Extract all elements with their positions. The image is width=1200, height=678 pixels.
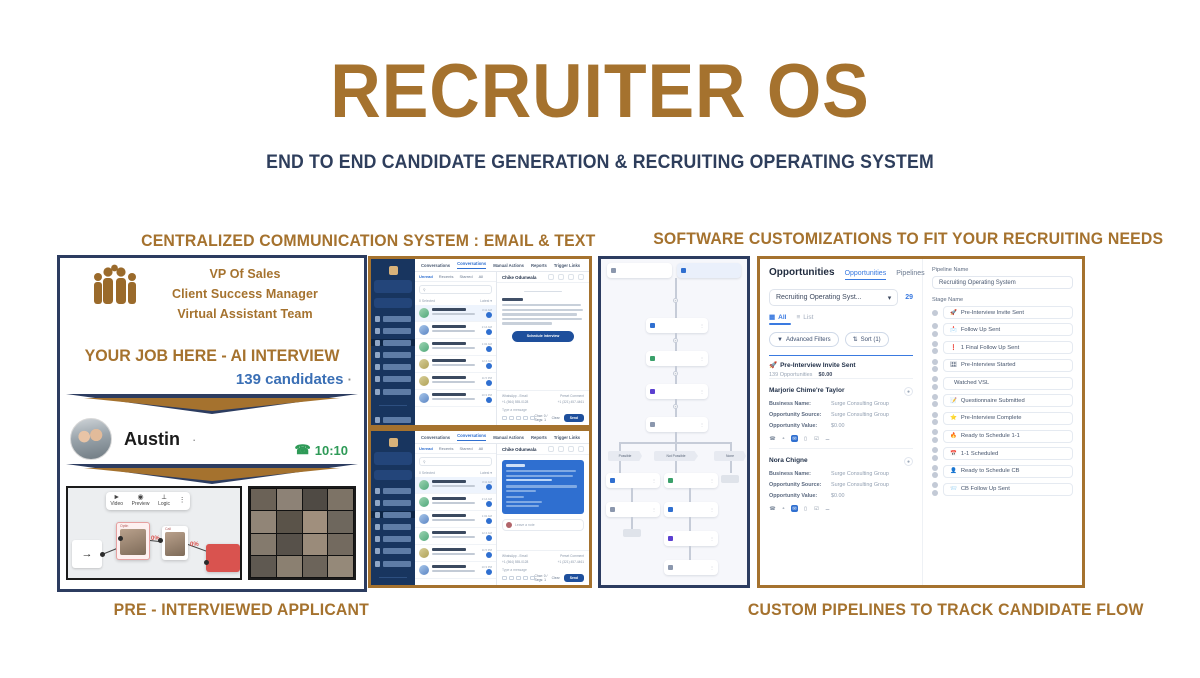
sidebar-divider xyxy=(379,577,407,578)
stage-row: 🎛 Pre-Interview Started xyxy=(932,359,1073,373)
image-icon[interactable] xyxy=(516,576,521,581)
tab-reports[interactable]: Reports xyxy=(531,263,547,268)
reply-row[interactable]: Leave a note xyxy=(502,519,584,531)
opportunities-header: Opportunities Opportunities Pipelines xyxy=(769,267,913,280)
stage-emoji-icon: 🔥 xyxy=(950,433,957,439)
ellipsis-icon: · xyxy=(348,372,352,387)
thread-messages: Schedule Interview xyxy=(497,283,589,390)
value-label: Opportunity Value: xyxy=(769,423,825,429)
avatar xyxy=(506,522,512,528)
stage-value: $0.00 xyxy=(819,372,833,378)
workflow-node-add-to-trigger[interactable]: ⋮ xyxy=(664,531,718,546)
pipeline-select[interactable]: Recruiting Operating Syst... ▾ xyxy=(769,289,898,306)
view-all-toggle[interactable]: ▦ All xyxy=(769,313,786,321)
stage-emoji-icon: 📅 xyxy=(950,451,957,457)
attachment-icon[interactable] xyxy=(509,416,514,421)
opportunity-card[interactable]: Marjorie Chime're Taylor ● Business Name… xyxy=(769,378,913,448)
pipeline-settings-column: Pipeline Name Recruiting Operating Syste… xyxy=(923,259,1082,585)
sms-icon xyxy=(650,356,655,361)
composer-channel[interactable]: WhatsApp - Email xyxy=(502,554,528,558)
funnel-step-node[interactable]: Call xyxy=(162,526,188,560)
call-icon[interactable] xyxy=(548,274,554,280)
sidebar-divider xyxy=(379,405,407,406)
chat-icon[interactable]: ⚬ xyxy=(780,505,787,512)
opportunity-card-header: Marjorie Chime're Taylor ● xyxy=(769,387,913,396)
composer-template[interactable]: Preset Comment xyxy=(560,554,584,558)
chevron-down-icon: ▾ xyxy=(888,294,892,302)
add-step-icon[interactable]: + xyxy=(673,338,678,343)
tab-all[interactable]: All xyxy=(479,446,483,451)
conversation-list-item[interactable]: 12:4 AM xyxy=(415,356,496,373)
composer-template[interactable]: Preset Comment xyxy=(560,394,584,398)
sidebar-item-contacts[interactable] xyxy=(375,364,411,371)
conversation-filter-tabs: Unread Recents Starred All xyxy=(415,444,496,454)
stage-name-value: Follow Up Sent xyxy=(961,327,1000,333)
reply-placeholder: Leave a note xyxy=(515,523,535,527)
sidebar-item-ai-agents[interactable] xyxy=(375,417,411,424)
conversation-list-item[interactable]: 3:11 AM xyxy=(415,477,496,494)
account-switcher[interactable] xyxy=(374,280,412,293)
sidebar-search-input[interactable] xyxy=(374,470,412,480)
stage-title: 🚀 Pre-Interview Invite Sent xyxy=(769,361,913,369)
video-icon[interactable]: ►Video xyxy=(110,494,123,507)
wait-icon xyxy=(650,389,655,394)
thread-header: Chike Odumeala xyxy=(497,272,589,283)
avatar: ● xyxy=(904,457,913,466)
opportunity-total-count: 29 xyxy=(905,294,913,301)
stage-row: 🔥 Ready to Schedule 1-1 xyxy=(932,429,1073,443)
drag-handle-icon[interactable] xyxy=(932,482,938,496)
phone-icon: ☎ xyxy=(295,442,311,458)
workflow-node-condition-left[interactable]: ⋮ xyxy=(606,473,660,488)
stage-row: 📩 Follow Up Sent xyxy=(932,323,1073,337)
conversation-list-item[interactable]: 10:3 PM xyxy=(415,390,496,407)
appointment-icon[interactable] xyxy=(558,274,564,280)
crm-sidebar xyxy=(371,431,415,585)
business-name-value: Surge Consulting Group xyxy=(831,401,889,407)
drag-handle-icon[interactable] xyxy=(932,310,938,316)
message-input[interactable]: Type a message xyxy=(502,566,584,574)
grid-icon: ▦ xyxy=(769,313,775,321)
stage-name-value: Ready to Schedule 1-1 xyxy=(961,433,1020,439)
task-icon[interactable]: ☑ xyxy=(813,505,820,512)
candidate-count: 139 candidates · xyxy=(236,371,352,388)
email-subject xyxy=(506,464,525,467)
composer-to[interactable]: +1 (321) 457-4461 xyxy=(558,400,584,404)
conversation-list-item[interactable]: 1:02 AM xyxy=(415,511,496,528)
opportunities-column: Opportunities Opportunities Pipelines Re… xyxy=(760,259,923,585)
conversation-list-item[interactable]: 2:14 AM xyxy=(415,322,496,339)
drag-handle-icon[interactable] xyxy=(932,394,938,408)
stage-emoji-icon: 🎛 xyxy=(950,362,957,368)
workflow-canvas[interactable]: + ⋮ + ⋮ + ⋮ + ⋮ xyxy=(601,259,747,585)
conversation-list-item[interactable]: 1:02 AM xyxy=(415,339,496,356)
conversation-list-meta: 0 Selected Latest ▾ xyxy=(415,297,496,305)
drag-handle-icon[interactable] xyxy=(932,429,938,443)
stage-row: ⭐ Pre-Interview Complete xyxy=(932,412,1073,426)
stage-input[interactable]: 🎛 Pre-Interview Started xyxy=(943,359,1073,372)
workflow-end-chip xyxy=(721,475,739,483)
opportunities-pipeline-panel: Opportunities Opportunities Pipelines Re… xyxy=(757,256,1085,588)
stage-input[interactable]: ❗ 1 Final Follow Up Sent xyxy=(943,341,1073,354)
conversation-list: Unread Recents Starred All ⚲ 0 Selected … xyxy=(415,272,497,425)
phone-icon[interactable]: ☎ xyxy=(769,435,776,442)
drag-handle-icon[interactable] xyxy=(932,412,938,426)
page-subtitle: END TO END CANDIDATE GENERATION & RECRUI… xyxy=(42,152,1158,174)
workflow-end-chip xyxy=(623,529,641,537)
trigger-icon xyxy=(611,268,616,273)
workflow-node-sms[interactable]: ⋮ xyxy=(646,351,708,366)
conversation-list-item[interactable]: 11:5 PM xyxy=(415,545,496,562)
note-icon[interactable]: ▯ xyxy=(802,435,809,442)
appointment-icon[interactable] xyxy=(558,446,564,452)
caption-centralized-communication: CENTRALIZED COMMUNICATION SYSTEM : EMAIL… xyxy=(141,231,595,251)
page-title: Conversations xyxy=(421,263,450,268)
sidebar-item-launchpad[interactable] xyxy=(375,315,411,322)
composer-channel[interactable]: WhatsApp - Email xyxy=(502,394,528,398)
composer-to[interactable]: +1 (321) 457-4461 xyxy=(558,560,584,564)
stage-input[interactable]: 📩 Follow Up Sent xyxy=(943,323,1073,336)
conversation-thread: Chike Odumeala xyxy=(497,272,589,425)
tab-conversations[interactable]: Conversations xyxy=(457,261,486,269)
tab-recents[interactable]: Recents xyxy=(439,446,454,451)
funnel-step-node[interactable]: Optin xyxy=(116,522,150,560)
stage-name-value: Ready to Schedule CB xyxy=(961,468,1020,474)
plus-icon xyxy=(681,268,686,273)
preview-icon[interactable]: ◉Preview xyxy=(132,494,150,507)
avatar: ● xyxy=(904,387,913,396)
crm-main: Conversations Conversations Manual Actio… xyxy=(415,431,589,585)
crm-main: Conversations Conversations Manual Actio… xyxy=(415,259,589,425)
advanced-filters-button[interactable]: ▼ Advanced Filters xyxy=(769,332,839,347)
emoji-icon[interactable] xyxy=(502,416,507,421)
slide-root: RECRUITER OS END TO END CANDIDATE GENERA… xyxy=(0,0,1200,678)
branch-label-none[interactable]: None xyxy=(714,451,746,461)
tab-opportunities[interactable]: Opportunities xyxy=(845,270,887,280)
trigger-icon xyxy=(668,536,673,541)
call-time-text: 10:10 xyxy=(315,443,348,458)
crm-conversations-panel-top: Conversations Conversations Manual Actio… xyxy=(368,256,592,428)
workflow-builder-panel: + ⋮ + ⋮ + ⋮ + ⋮ xyxy=(598,256,750,588)
tab-recents[interactable]: Recents xyxy=(439,274,454,279)
stage-name-value: 1 Final Follow Up Sent xyxy=(961,345,1019,351)
ellipsis-icon: · xyxy=(192,432,196,447)
kebab-menu-icon[interactable]: ⋮ xyxy=(179,497,186,505)
composer-from[interactable]: +1 (564) 555-0128 xyxy=(502,400,528,404)
clear-button[interactable]: Clear xyxy=(552,416,560,420)
chat-icon[interactable]: ⚬ xyxy=(780,435,787,442)
source-label: Opportunity Source: xyxy=(769,482,825,488)
composer-from[interactable]: +1 (564) 555-0128 xyxy=(502,560,528,564)
sidebar-nav xyxy=(371,487,415,588)
note-icon[interactable] xyxy=(568,274,574,280)
sidebar-item-calendars[interactable] xyxy=(375,352,411,359)
role-item: Client Success Manager xyxy=(130,284,360,304)
email-message-bubble xyxy=(502,460,584,514)
caption-pre-interviewed-applicant: PRE - INTERVIEWED APPLICANT xyxy=(114,600,369,620)
sidebar-nav xyxy=(371,315,415,428)
branch-label-possible[interactable]: Possible xyxy=(608,451,642,461)
sort-latest[interactable]: Latest ▾ xyxy=(480,299,492,303)
drag-handle-icon[interactable] xyxy=(932,359,938,373)
stage-row: ❗ 1 Final Follow Up Sent xyxy=(932,341,1073,355)
stage-column-header: 🚀 Pre-Interview Invite Sent 139 Opportun… xyxy=(769,355,913,378)
drag-handle-icon[interactable] xyxy=(932,447,938,461)
tab-starred[interactable]: Starred xyxy=(459,446,472,451)
sidebar-item-payments[interactable] xyxy=(375,560,411,567)
sidebar-item-contacts[interactable] xyxy=(375,536,411,543)
condition-icon xyxy=(610,478,615,483)
tab-pipelines[interactable]: Pipelines xyxy=(896,270,924,277)
job-headline: YOUR JOB HERE - AI INTERVIEW xyxy=(69,346,355,366)
stage-emoji-icon: 👤 xyxy=(950,468,957,474)
contact-icon xyxy=(610,507,615,512)
template-icon[interactable] xyxy=(523,576,528,581)
view-list-toggle[interactable]: ≡ List xyxy=(796,314,813,321)
add-step-icon[interactable]: + xyxy=(673,298,678,303)
note-icon[interactable]: ▯ xyxy=(802,505,809,512)
char-counter: Char: 0 / Segs: 1 xyxy=(535,414,548,422)
crm-conversations-panel-bottom: Conversations Conversations Manual Actio… xyxy=(368,428,592,588)
stage-input[interactable]: 🔥 Ready to Schedule 1-1 xyxy=(943,430,1073,443)
role-list: VP Of Sales Client Success Manager Virtu… xyxy=(130,264,360,324)
branch-label-not-possible[interactable]: Not Possible xyxy=(654,451,698,461)
sidebar-search-input[interactable] xyxy=(374,298,412,308)
delete-icon[interactable]: ⚊ xyxy=(824,505,831,512)
date-separator xyxy=(524,291,562,292)
tab-conversations[interactable]: Conversations xyxy=(457,433,486,441)
stage-emoji-icon: 📨 xyxy=(950,486,957,492)
workflow-node-update-contact[interactable]: ⋮ xyxy=(606,502,660,517)
funnel-builder-thumbnail: ►Video ◉Preview ⟂Logic ⋮ → xyxy=(66,486,242,580)
conversation-thread: Chike Odumeala xyxy=(497,444,589,585)
workflow-node-goto[interactable]: ⋮ xyxy=(664,560,718,575)
conversation-search-input[interactable]: ⚲ xyxy=(419,285,492,294)
workflow-node-add-tag[interactable]: ⋮ xyxy=(646,318,708,333)
funnel-toolbar: ►Video ◉Preview ⟂Logic ⋮ xyxy=(106,492,190,510)
schedule-interview-button[interactable]: Schedule Interview xyxy=(512,331,574,342)
filter-row: ▼ Advanced Filters ⇅ Sort (1) xyxy=(769,332,913,347)
stage-emoji-icon: 📝 xyxy=(950,398,957,404)
drag-handle-icon[interactable] xyxy=(932,465,938,479)
stage-input[interactable]: ⭐ Pre-Interview Complete xyxy=(943,412,1073,425)
sidebar-item-dashboard[interactable] xyxy=(375,327,411,334)
branch-icon xyxy=(650,422,655,427)
page-title: Opportunities xyxy=(769,267,835,278)
value-value: $0.00 xyxy=(831,423,845,429)
conversation-search-input[interactable]: ⚲ xyxy=(419,457,492,466)
sidebar-item-conversations[interactable] xyxy=(371,339,415,346)
filter-icon[interactable] xyxy=(578,446,584,452)
emoji-icon[interactable] xyxy=(502,576,507,581)
sidebar-item-conversations[interactable] xyxy=(371,511,415,518)
conversation-list-item[interactable]: 2:14 AM xyxy=(415,494,496,511)
stage-input[interactable]: 📝 Questionnaire Submitted xyxy=(943,394,1073,407)
tab-trigger-links[interactable]: Trigger Links xyxy=(554,263,580,268)
source-label: Opportunity Source: xyxy=(769,412,825,418)
tab-trigger-links[interactable]: Trigger Links xyxy=(554,435,580,440)
stage-row: 🚀 Pre-Interview Invite Sent xyxy=(932,306,1073,319)
message-icon[interactable]: ✉ xyxy=(791,505,798,512)
task-icon[interactable]: ☑ xyxy=(813,435,820,442)
stage-input[interactable]: 📅 1-1 Scheduled xyxy=(943,447,1073,460)
crm-sidebar xyxy=(371,259,415,425)
drag-handle-icon[interactable] xyxy=(932,341,938,355)
opportunity-card[interactable]: Nora Chigne ● Business Name:Surge Consul… xyxy=(769,448,913,518)
workflow-node-internal-notification[interactable]: ⋮ xyxy=(664,502,718,517)
workflow-trigger-node[interactable] xyxy=(607,263,672,278)
stage-row: 👤 Ready to Schedule CB xyxy=(932,465,1073,479)
conversation-filter-tabs: Unread Recents Starred All xyxy=(415,272,496,282)
business-name-label: Business Name: xyxy=(769,471,825,477)
add-trigger-button[interactable] xyxy=(677,263,742,278)
tag-icon xyxy=(650,323,655,328)
add-step-icon[interactable]: + xyxy=(673,404,678,409)
sort-latest[interactable]: Latest ▾ xyxy=(480,471,492,475)
opportunity-card-header: Nora Chigne ● xyxy=(769,457,913,466)
stage-emoji-icon: 🚀 xyxy=(950,310,957,316)
message-icon[interactable]: ✉ xyxy=(791,435,798,442)
tab-reports[interactable]: Reports xyxy=(531,435,547,440)
stage-input[interactable]: 👤 Ready to Schedule CB xyxy=(943,465,1073,478)
sort-icon: ⇅ xyxy=(853,336,858,343)
sidebar-item-calendars[interactable] xyxy=(375,524,411,531)
rocket-icon: 🚀 xyxy=(769,361,777,369)
thread-messages: Leave a note xyxy=(497,455,589,550)
phone-icon[interactable]: ☎ xyxy=(769,505,776,512)
stage-name-value: Questionnaire Submitted xyxy=(961,398,1025,404)
candidate-count-text: 139 candidates xyxy=(236,371,344,388)
call-icon[interactable] xyxy=(548,446,554,452)
stage-input[interactable]: 📨 CB Follow Up Sent xyxy=(943,483,1073,496)
value-value: $0.00 xyxy=(831,493,845,499)
stage-input[interactable]: 🚀 Pre-Interview Invite Sent xyxy=(943,306,1073,319)
clear-button[interactable]: Clear xyxy=(552,576,560,580)
image-icon[interactable] xyxy=(516,416,521,421)
business-name-value: Surge Consulting Group xyxy=(831,471,889,477)
caption-software-customizations: SOFTWARE CUSTOMIZATIONS TO FIT YOUR RECR… xyxy=(653,229,1163,249)
caption-custom-pipelines: CUSTOM PIPELINES TO TRACK CANDIDATE FLOW xyxy=(748,600,1144,620)
video-call-grid-thumbnail xyxy=(248,486,356,580)
add-step-icon[interactable]: + xyxy=(673,371,678,376)
tab-starred[interactable]: Starred xyxy=(459,274,472,279)
sidebar-item-dashboard[interactable] xyxy=(375,499,411,506)
account-switcher[interactable] xyxy=(374,452,412,465)
media-thumbnails: ►Video ◉Preview ⟂Logic ⋮ → xyxy=(66,486,356,580)
conversation-list-item[interactable]: 10:3 PM xyxy=(415,562,496,579)
selected-count: 0 Selected xyxy=(419,471,435,475)
send-button[interactable]: Send xyxy=(564,414,584,421)
note-icon[interactable] xyxy=(568,446,574,452)
tab-all[interactable]: All xyxy=(479,274,483,279)
stage-name-value: Pre-Interview Invite Sent xyxy=(961,310,1024,316)
filter-icon: ▼ xyxy=(777,337,783,343)
flow-connector-dot xyxy=(100,552,105,557)
thread-contact-name: Chike Odumeala xyxy=(502,447,536,452)
sort-button[interactable]: ⇅ Sort (1) xyxy=(845,332,889,347)
message-composer: WhatsApp - Email Preset Comment +1 (564)… xyxy=(497,550,589,585)
call-duration: ☎ 10:10 xyxy=(295,442,348,458)
sidebar-item-opportunities[interactable] xyxy=(375,376,411,383)
send-button[interactable]: Send xyxy=(564,574,584,581)
sidebar-item-payments[interactable] xyxy=(375,388,411,395)
flow-connector-dot xyxy=(204,560,209,565)
char-counter: Char: 0 / Segs: 1 xyxy=(535,574,548,582)
flow-connector-dot xyxy=(158,538,163,543)
workflow-node-email[interactable]: ⋮ xyxy=(664,473,718,488)
sidebar-item-opportunities[interactable] xyxy=(375,548,411,555)
tab-unread[interactable]: Unread xyxy=(419,446,433,451)
logic-icon[interactable]: ⟂Logic xyxy=(158,494,170,507)
stage-row: 📅 1-1 Scheduled xyxy=(932,447,1073,461)
stage-name-label: Stage Name xyxy=(932,297,1073,303)
stage-input[interactable]: Watched VSL xyxy=(943,377,1073,390)
tab-unread[interactable]: Unread xyxy=(419,274,433,279)
source-value: Surge Consulting Group xyxy=(831,482,889,488)
crm-top-tabs: Conversations Conversations Manual Actio… xyxy=(415,431,589,444)
conversation-list-item[interactable]: 11:5 PM xyxy=(415,373,496,390)
active-view-underline xyxy=(769,323,791,325)
message-input[interactable]: Type a message xyxy=(502,406,584,414)
card-action-icons: ☎ ⚬ ✉ ▯ ☑ ⚊ xyxy=(769,505,913,512)
brand-logo-icon xyxy=(389,266,398,275)
drag-handle-icon[interactable] xyxy=(932,376,938,390)
stage-name-value: Pre-Interview Started xyxy=(961,362,1015,368)
stage-row: Watched VSL xyxy=(932,376,1073,390)
funnel-start-node[interactable]: → xyxy=(72,540,102,568)
conversation-list: Unread Recents Starred All ⚲ 0 Selected … xyxy=(415,444,497,585)
list-icon: ≡ xyxy=(796,314,800,321)
chevron-divider-icon xyxy=(66,462,358,484)
tab-manual-actions[interactable]: Manual Actions xyxy=(493,435,524,440)
crm-top-tabs: Conversations Conversations Manual Actio… xyxy=(415,259,589,272)
conversation-list-item[interactable]: 3:11 AM xyxy=(415,305,496,322)
email-icon xyxy=(668,478,673,483)
chevron-divider-icon xyxy=(66,392,358,414)
sidebar-item-launchpad[interactable] xyxy=(375,487,411,494)
attachment-icon[interactable] xyxy=(509,576,514,581)
opportunity-name: Marjorie Chime're Taylor xyxy=(769,387,844,396)
tab-manual-actions[interactable]: Manual Actions xyxy=(493,263,524,268)
avatar xyxy=(70,418,112,460)
person-name: Austin xyxy=(124,429,180,450)
conversion-rate-badge: 0% xyxy=(190,542,199,548)
notification-icon xyxy=(668,507,673,512)
delete-icon[interactable]: ⚊ xyxy=(824,435,831,442)
template-icon[interactable] xyxy=(523,416,528,421)
pipeline-select-value: Recruiting Operating Syst... xyxy=(776,294,862,301)
pipeline-name-input[interactable]: Recruiting Operating System xyxy=(932,276,1073,289)
workflow-node-wait[interactable]: ⋮ xyxy=(646,384,708,399)
conversation-list-item[interactable]: 12:4 AM xyxy=(415,528,496,545)
funnel-end-node[interactable] xyxy=(206,544,240,572)
search-icon: ⚲ xyxy=(423,460,426,464)
stage-name-value: Watched VSL xyxy=(954,380,989,386)
message-composer: WhatsApp - Email Preset Comment +1 (564)… xyxy=(497,390,589,425)
stage-name-value: Pre-Interview Complete xyxy=(961,415,1022,421)
participant-grid xyxy=(251,489,353,577)
stage-emoji-icon: ⭐ xyxy=(950,415,957,421)
view-toggle-row: ▦ All ≡ List xyxy=(769,313,913,321)
card-action-icons: ☎ ⚬ ✉ ▯ ☑ ⚊ xyxy=(769,435,913,442)
thread-contact-name: Chike Odumeala xyxy=(502,275,536,280)
thread-header: Chike Odumeala xyxy=(497,444,589,455)
drag-handle-icon[interactable] xyxy=(932,323,938,337)
stage-count: 139 Opportunities xyxy=(769,372,812,378)
filter-icon[interactable] xyxy=(578,274,584,280)
workflow-node-check-trigger[interactable]: ⋮ xyxy=(646,417,708,432)
role-item: Virtual Assistant Team xyxy=(130,304,360,324)
